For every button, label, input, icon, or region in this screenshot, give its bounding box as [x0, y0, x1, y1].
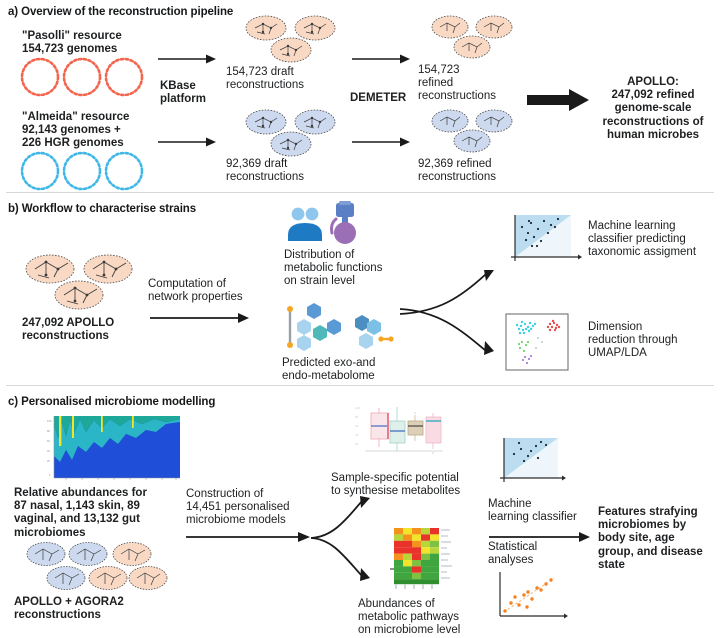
genome-rings-cyan-svg [18, 150, 148, 192]
arrow-pasolli-to-draft [158, 52, 218, 66]
refined-reconstructions-blue-cells [430, 108, 516, 156]
apollo-input-cells [22, 253, 138, 309]
refined-reconstructions-peach-cells [430, 14, 516, 62]
dimension-reduction-label: Dimension reduction through UMAP/LDA [588, 321, 720, 361]
apollo-agora2-label: APOLLO + AGORA2 reconstructions [14, 596, 184, 622]
figure-root: a) Overview of the reconstruction pipeli… [0, 0, 720, 631]
genome-rings-red-svg [18, 56, 148, 98]
flask-icon [332, 201, 357, 244]
ml-classifier-label-b: Machine learning classifier predicting t… [588, 220, 720, 260]
curved-arrow-down-svg [310, 536, 376, 584]
fork-arrow-to-heatmap [310, 536, 376, 584]
ml-classifier-chart-b [506, 213, 580, 271]
statistical-analyses-label: Statistical analyses [488, 541, 588, 567]
panel-b: b) Workflow to characterise strains 2 [0, 193, 720, 386]
features-summary-label: Features strafying microbiomes by body s… [598, 506, 718, 572]
metabolome-icon-group [282, 301, 400, 355]
svg-text:40: 40 [47, 449, 50, 453]
heatmap-axis-ticks [396, 585, 432, 589]
refined-top-label: 154,723 refined reconstructions [418, 64, 538, 104]
box-3 [408, 415, 423, 441]
arrow-right-svg [158, 52, 218, 66]
people-flask-icon-svg [286, 201, 362, 247]
svg-text:20: 20 [355, 442, 359, 446]
draft-reconstructions-peach-cells [243, 14, 343, 64]
arrow-to-apollo [527, 88, 591, 112]
relative-abundance-chart: 1008060 40200 [46, 416, 182, 484]
svg-text:80: 80 [355, 415, 359, 419]
draft-top-label: 154,723 draft reconstructions [226, 66, 356, 92]
umap-scatter-svg [500, 312, 576, 374]
svg-text:0: 0 [49, 473, 51, 477]
heatmap-cells [394, 528, 439, 584]
svg-text:80: 80 [47, 429, 50, 433]
microbe-cell-cluster-mixed-svg [24, 541, 160, 593]
statistical-analyses-chart [492, 570, 572, 626]
arrow-almeida-to-draft [158, 135, 218, 149]
curved-arrow-down-svg [398, 305, 508, 359]
arrow-right-svg [150, 311, 250, 325]
distribution-icon-group [286, 201, 362, 247]
heatmap-svg [390, 526, 464, 596]
relative-abundances-label: Relative abundances for 87 nasal, 1,143 … [14, 487, 189, 540]
sample-specific-label: Sample-specific potential to synthesise … [331, 472, 496, 498]
stacked-area-svg: 1008060 40200 [46, 416, 182, 484]
refined-bottom-label: 92,369 refined reconstructions [418, 158, 548, 184]
panel-c: c) Personalised microbiome modelling [0, 386, 720, 631]
boxplot-chart: 1008060 4020 [355, 401, 447, 459]
panel-b-title: b) Workflow to characterise strains [8, 203, 196, 215]
arrow-input-to-properties [150, 311, 250, 325]
microbe-cell-cluster-svg [243, 108, 343, 158]
apollo-input-label: 247,092 APOLLO reconstructions [22, 317, 162, 343]
panel-c-title: c) Personalised microbiome modelling [8, 396, 215, 408]
box-4 [426, 413, 441, 449]
metabolic-pathway-heatmap [390, 526, 464, 596]
scatter-chart-svg [496, 436, 566, 492]
boxplot-svg: 1008060 4020 [355, 401, 447, 459]
apollo-summary-label: APOLLO: 247,092 refined genome-scale rec… [590, 76, 716, 142]
svg-text:100: 100 [355, 406, 360, 410]
ml-classifier-chart-c [496, 436, 566, 492]
apollo-agora2-cells [24, 541, 160, 593]
box-1 [371, 408, 388, 447]
umap-chart-b [500, 312, 576, 374]
metabolome-network-icon-svg [282, 301, 400, 355]
curved-arrow-to-umap [398, 305, 508, 359]
kbase-platform-label: KBase platform [160, 80, 230, 106]
panel-a: a) Overview of the reconstruction pipeli… [0, 0, 720, 193]
svg-text:60: 60 [47, 439, 50, 443]
ml-classifier-label-c: Machine learning classifier [488, 498, 598, 524]
svg-text:20: 20 [47, 459, 50, 463]
svg-text:100: 100 [47, 419, 52, 423]
scatter-chart-svg [506, 213, 580, 271]
microbe-cell-cluster-svg [243, 14, 343, 64]
arrow-right-svg [158, 135, 218, 149]
arrow-right-svg [186, 530, 311, 544]
pasolli-genome-rings [18, 56, 148, 98]
arrow-draft-to-refined-top [352, 52, 412, 66]
svg-text:60: 60 [355, 424, 359, 428]
scatter-trend-svg [492, 570, 572, 626]
arrow-to-models [186, 530, 311, 544]
arrow-draft-to-refined-bottom [352, 135, 412, 149]
draft-reconstructions-blue-cells [243, 108, 343, 158]
microbe-cell-cluster-svg [430, 14, 516, 62]
curved-arrow-up-svg [310, 494, 376, 542]
computation-label: Computation of network properties [148, 278, 268, 304]
arrow-right-svg [352, 52, 412, 66]
construction-label: Construction of 14,451 personalised micr… [186, 488, 321, 528]
heatmap-dendrogram-right [441, 530, 452, 578]
draft-bottom-label: 92,369 draft reconstructions [226, 158, 356, 184]
svg-text:40: 40 [355, 433, 359, 437]
metabolome-label: Predicted exo-and endo-metabolome [282, 357, 432, 383]
microbe-cell-cluster-svg [430, 108, 516, 156]
people-icon [288, 208, 322, 241]
arrow-right-thick-svg [527, 88, 591, 112]
panel-a-title: a) Overview of the reconstruction pipeli… [8, 6, 233, 18]
pathway-abundances-label: Abundances of metabolic pathways on micr… [358, 598, 508, 638]
arrow-right-svg [352, 135, 412, 149]
fork-arrow-to-boxplots [310, 494, 376, 542]
box-2 [390, 407, 405, 451]
almeida-genome-rings [18, 150, 148, 192]
microbe-cell-cluster-svg [22, 253, 138, 309]
